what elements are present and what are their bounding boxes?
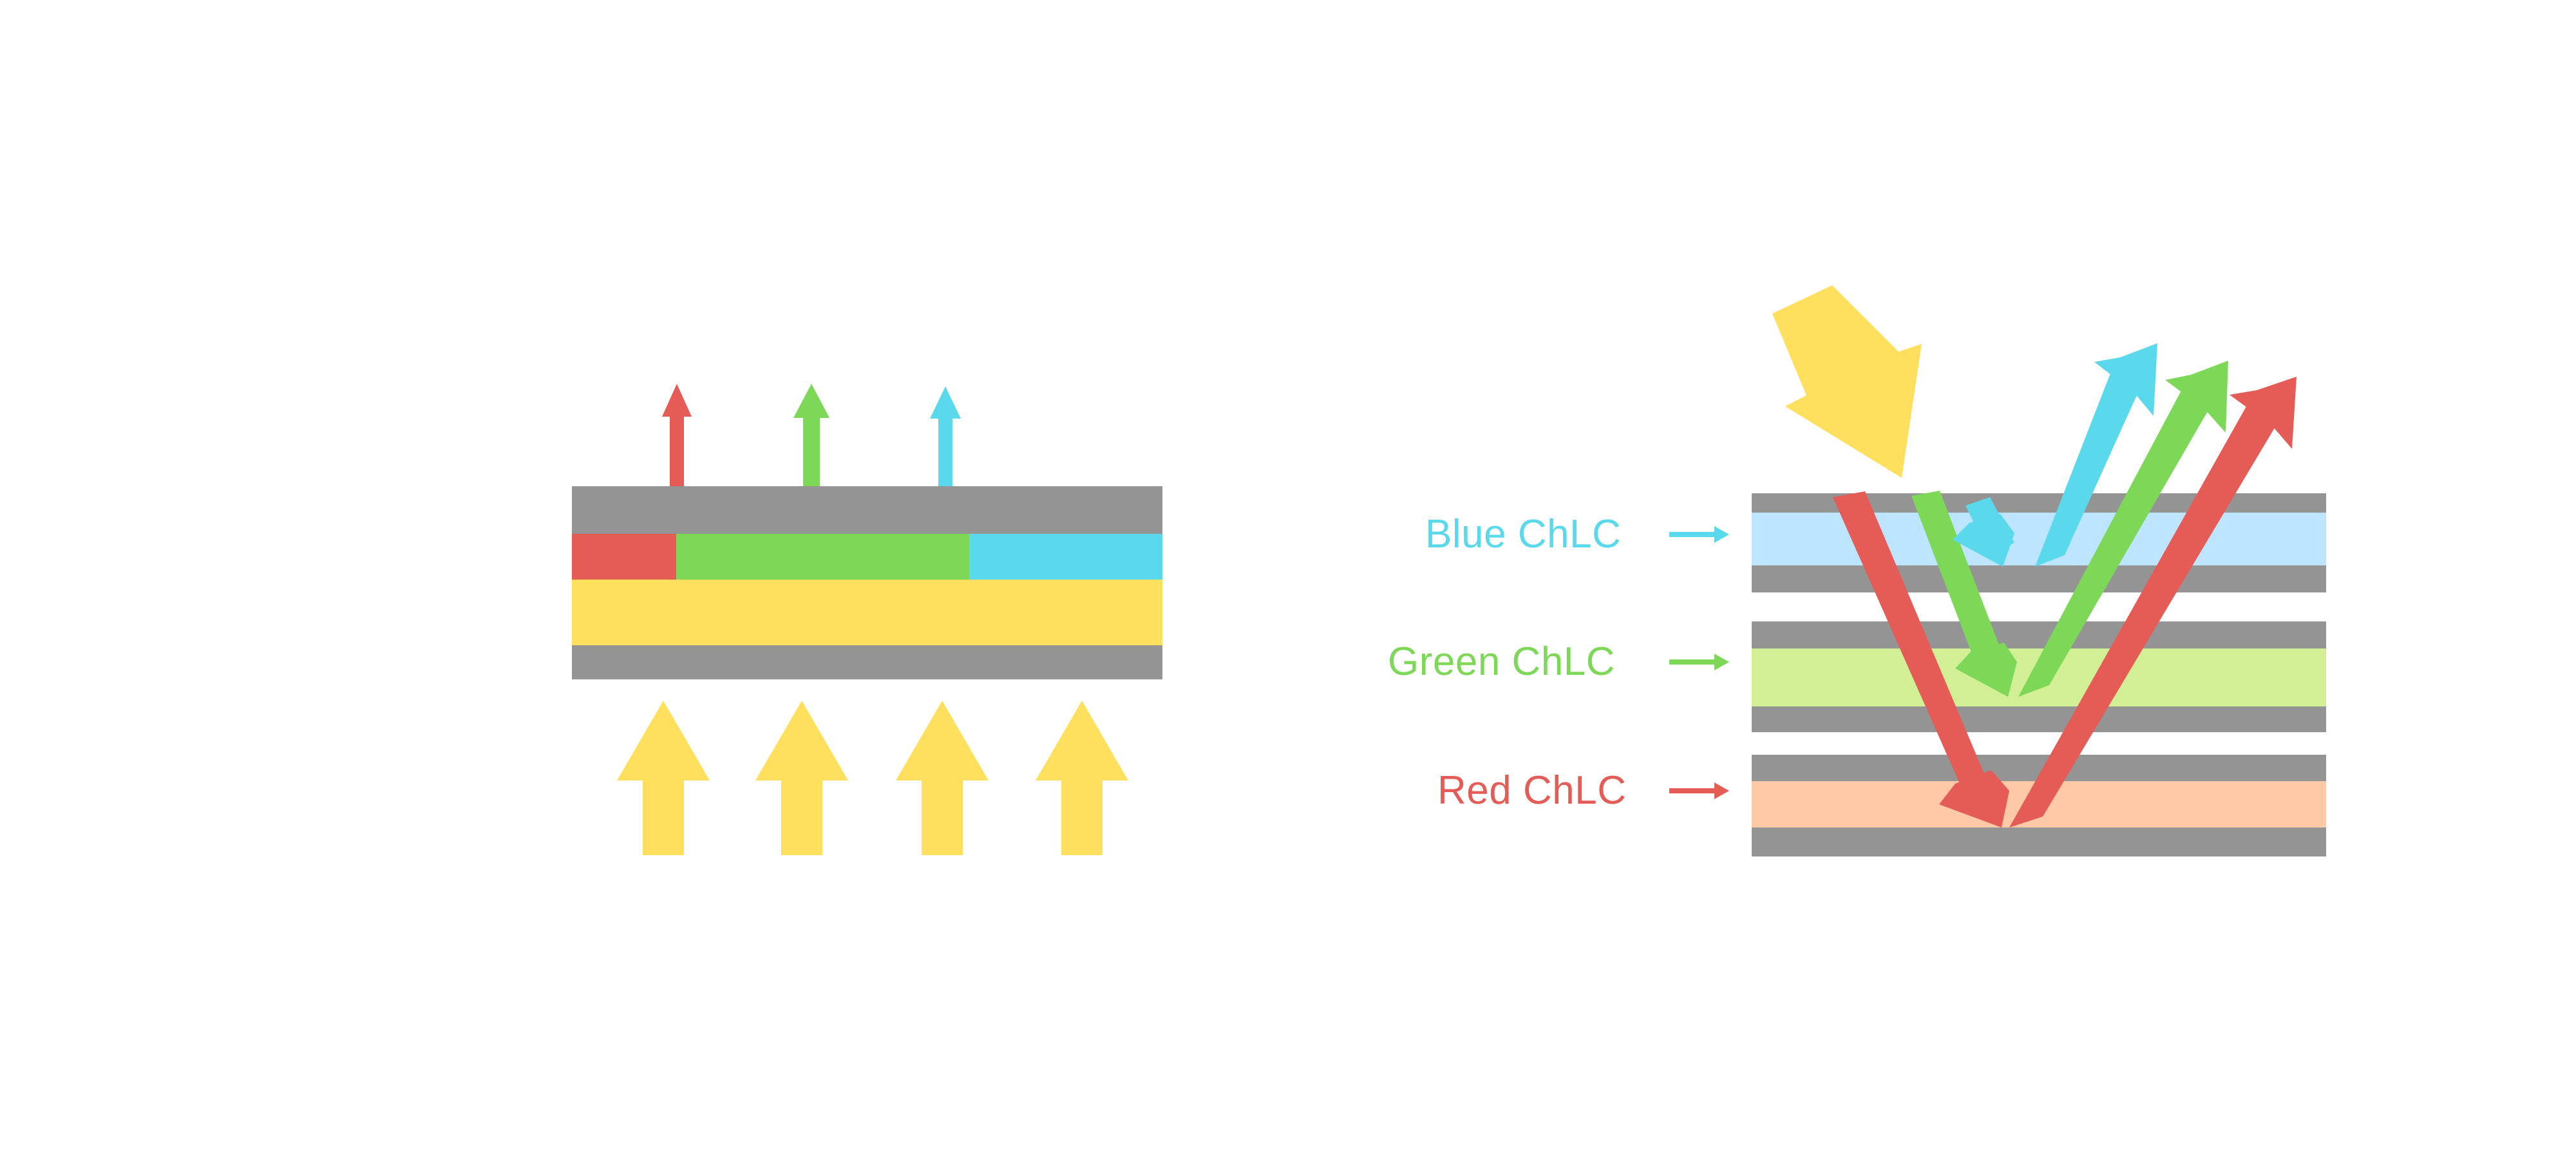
green-chlc-label: Green ChLC xyxy=(1388,639,1729,684)
left-panel-group xyxy=(572,384,1162,855)
red-subpixel xyxy=(572,534,676,580)
bottom-electrode-layer xyxy=(572,645,1162,679)
green-cell-bottom-electrode xyxy=(1752,706,2326,732)
lcd-stack xyxy=(572,486,1162,679)
green-emitted-arrow xyxy=(793,384,829,501)
green-subpixel xyxy=(676,534,969,580)
blue-cell-bottom-electrode xyxy=(1752,565,2326,592)
red-chlc-label: Red ChLC xyxy=(1437,768,1729,813)
backlight-arrow-3 xyxy=(896,701,989,855)
blue-subpixel xyxy=(969,534,1162,580)
blue-chlc-label: Blue ChLC xyxy=(1425,512,1729,556)
red-chlc-label-text: Red ChLC xyxy=(1437,768,1626,813)
diagram-canvas: Blue ChLC Green ChLC Red ChLC xyxy=(0,0,2576,1154)
backlight-arrow-2 xyxy=(755,701,848,855)
blue-emitted-arrow xyxy=(930,386,961,501)
blue-chlc-label-arrow-icon xyxy=(1669,526,1729,543)
green-chlc-label-arrow-icon xyxy=(1669,654,1729,670)
emitted-light-arrows xyxy=(662,384,961,501)
right-panel-group: Blue ChLC Green ChLC Red ChLC xyxy=(1388,285,2326,856)
red-chlc-label-arrow-icon xyxy=(1669,782,1729,799)
backlight-arrows xyxy=(617,701,1128,855)
top-electrode-layer xyxy=(572,486,1162,534)
chlc-display-diagram: Blue ChLC Green ChLC Red ChLC xyxy=(0,0,2576,1154)
ambient-light-arrow xyxy=(1772,285,1922,478)
backlight-arrow-4 xyxy=(1036,701,1128,855)
green-chlc-label-text: Green ChLC xyxy=(1388,639,1615,684)
backlight-arrow-1 xyxy=(617,701,710,855)
red-cell-bottom-electrode xyxy=(1752,828,2326,856)
red-emitted-arrow xyxy=(662,384,692,501)
backlight-guide-layer xyxy=(572,580,1162,645)
green-cell-top-electrode xyxy=(1752,621,2326,648)
blue-chlc-label-text: Blue ChLC xyxy=(1425,512,1621,556)
